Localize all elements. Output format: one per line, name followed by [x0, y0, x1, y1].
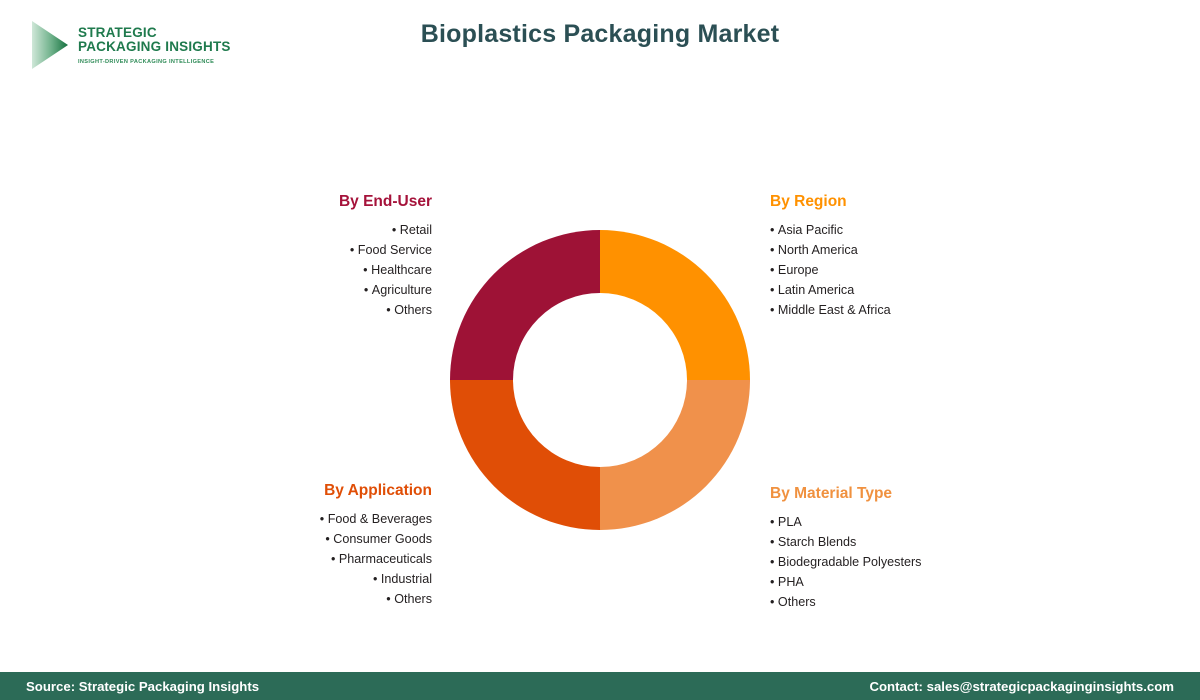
list-item: PLA	[770, 512, 1070, 532]
list-item: Starch Blends	[770, 532, 1070, 552]
segment-region-list: Asia Pacific North America Europe Latin …	[770, 220, 1050, 320]
segment-material-type: By Material Type PLA Starch Blends Biode…	[770, 485, 1070, 612]
footer-contact: Contact: sales@strategicpackaginginsight…	[869, 679, 1174, 694]
donut-slice-material-type[interactable]	[600, 380, 750, 530]
list-item: Pharmaceuticals	[172, 549, 432, 569]
donut-slice-region[interactable]	[600, 230, 750, 380]
list-item: Industrial	[172, 569, 432, 589]
list-item: Retail	[232, 220, 432, 240]
list-item: Latin America	[770, 280, 1050, 300]
segment-material-type-list: PLA Starch Blends Biodegradable Polyeste…	[770, 512, 1070, 612]
footer-bar: Source: Strategic Packaging Insights Con…	[0, 672, 1200, 700]
segment-end-user-heading: By End-User	[232, 193, 432, 211]
segment-application-list: Food & Beverages Consumer Goods Pharmace…	[172, 509, 432, 609]
list-item: Europe	[770, 260, 1050, 280]
donut-chart	[450, 230, 750, 530]
list-item: Food Service	[232, 240, 432, 260]
list-item: Agriculture	[232, 280, 432, 300]
segment-application: By Application Food & Beverages Consumer…	[172, 482, 432, 609]
segment-application-heading: By Application	[172, 482, 432, 500]
segment-end-user: By End-User Retail Food Service Healthca…	[232, 193, 432, 320]
list-item: PHA	[770, 572, 1070, 592]
list-item: Others	[172, 589, 432, 609]
page-title: Bioplastics Packaging Market	[0, 20, 1200, 49]
list-item: Middle East & Africa	[770, 300, 1050, 320]
list-item: Others	[770, 592, 1070, 612]
list-item: North America	[770, 240, 1050, 260]
list-item: Others	[232, 300, 432, 320]
segment-material-type-heading: By Material Type	[770, 485, 1070, 503]
segment-region-heading: By Region	[770, 193, 1050, 211]
list-item: Food & Beverages	[172, 509, 432, 529]
segment-region: By Region Asia Pacific North America Eur…	[770, 193, 1050, 320]
segment-end-user-list: Retail Food Service Healthcare Agricultu…	[232, 220, 432, 320]
donut-slice-end-user[interactable]	[450, 230, 600, 380]
list-item: Healthcare	[232, 260, 432, 280]
list-item: Consumer Goods	[172, 529, 432, 549]
list-item: Biodegradable Polyesters	[770, 552, 1070, 572]
infographic-page: STRATEGIC PACKAGING INSIGHTS INSIGHT-DRI…	[0, 0, 1200, 700]
footer-source: Source: Strategic Packaging Insights	[26, 679, 259, 694]
list-item: Asia Pacific	[770, 220, 1050, 240]
donut-slice-application[interactable]	[450, 380, 600, 530]
logo-tagline: INSIGHT-DRIVEN PACKAGING INTELLIGENCE	[78, 59, 231, 65]
